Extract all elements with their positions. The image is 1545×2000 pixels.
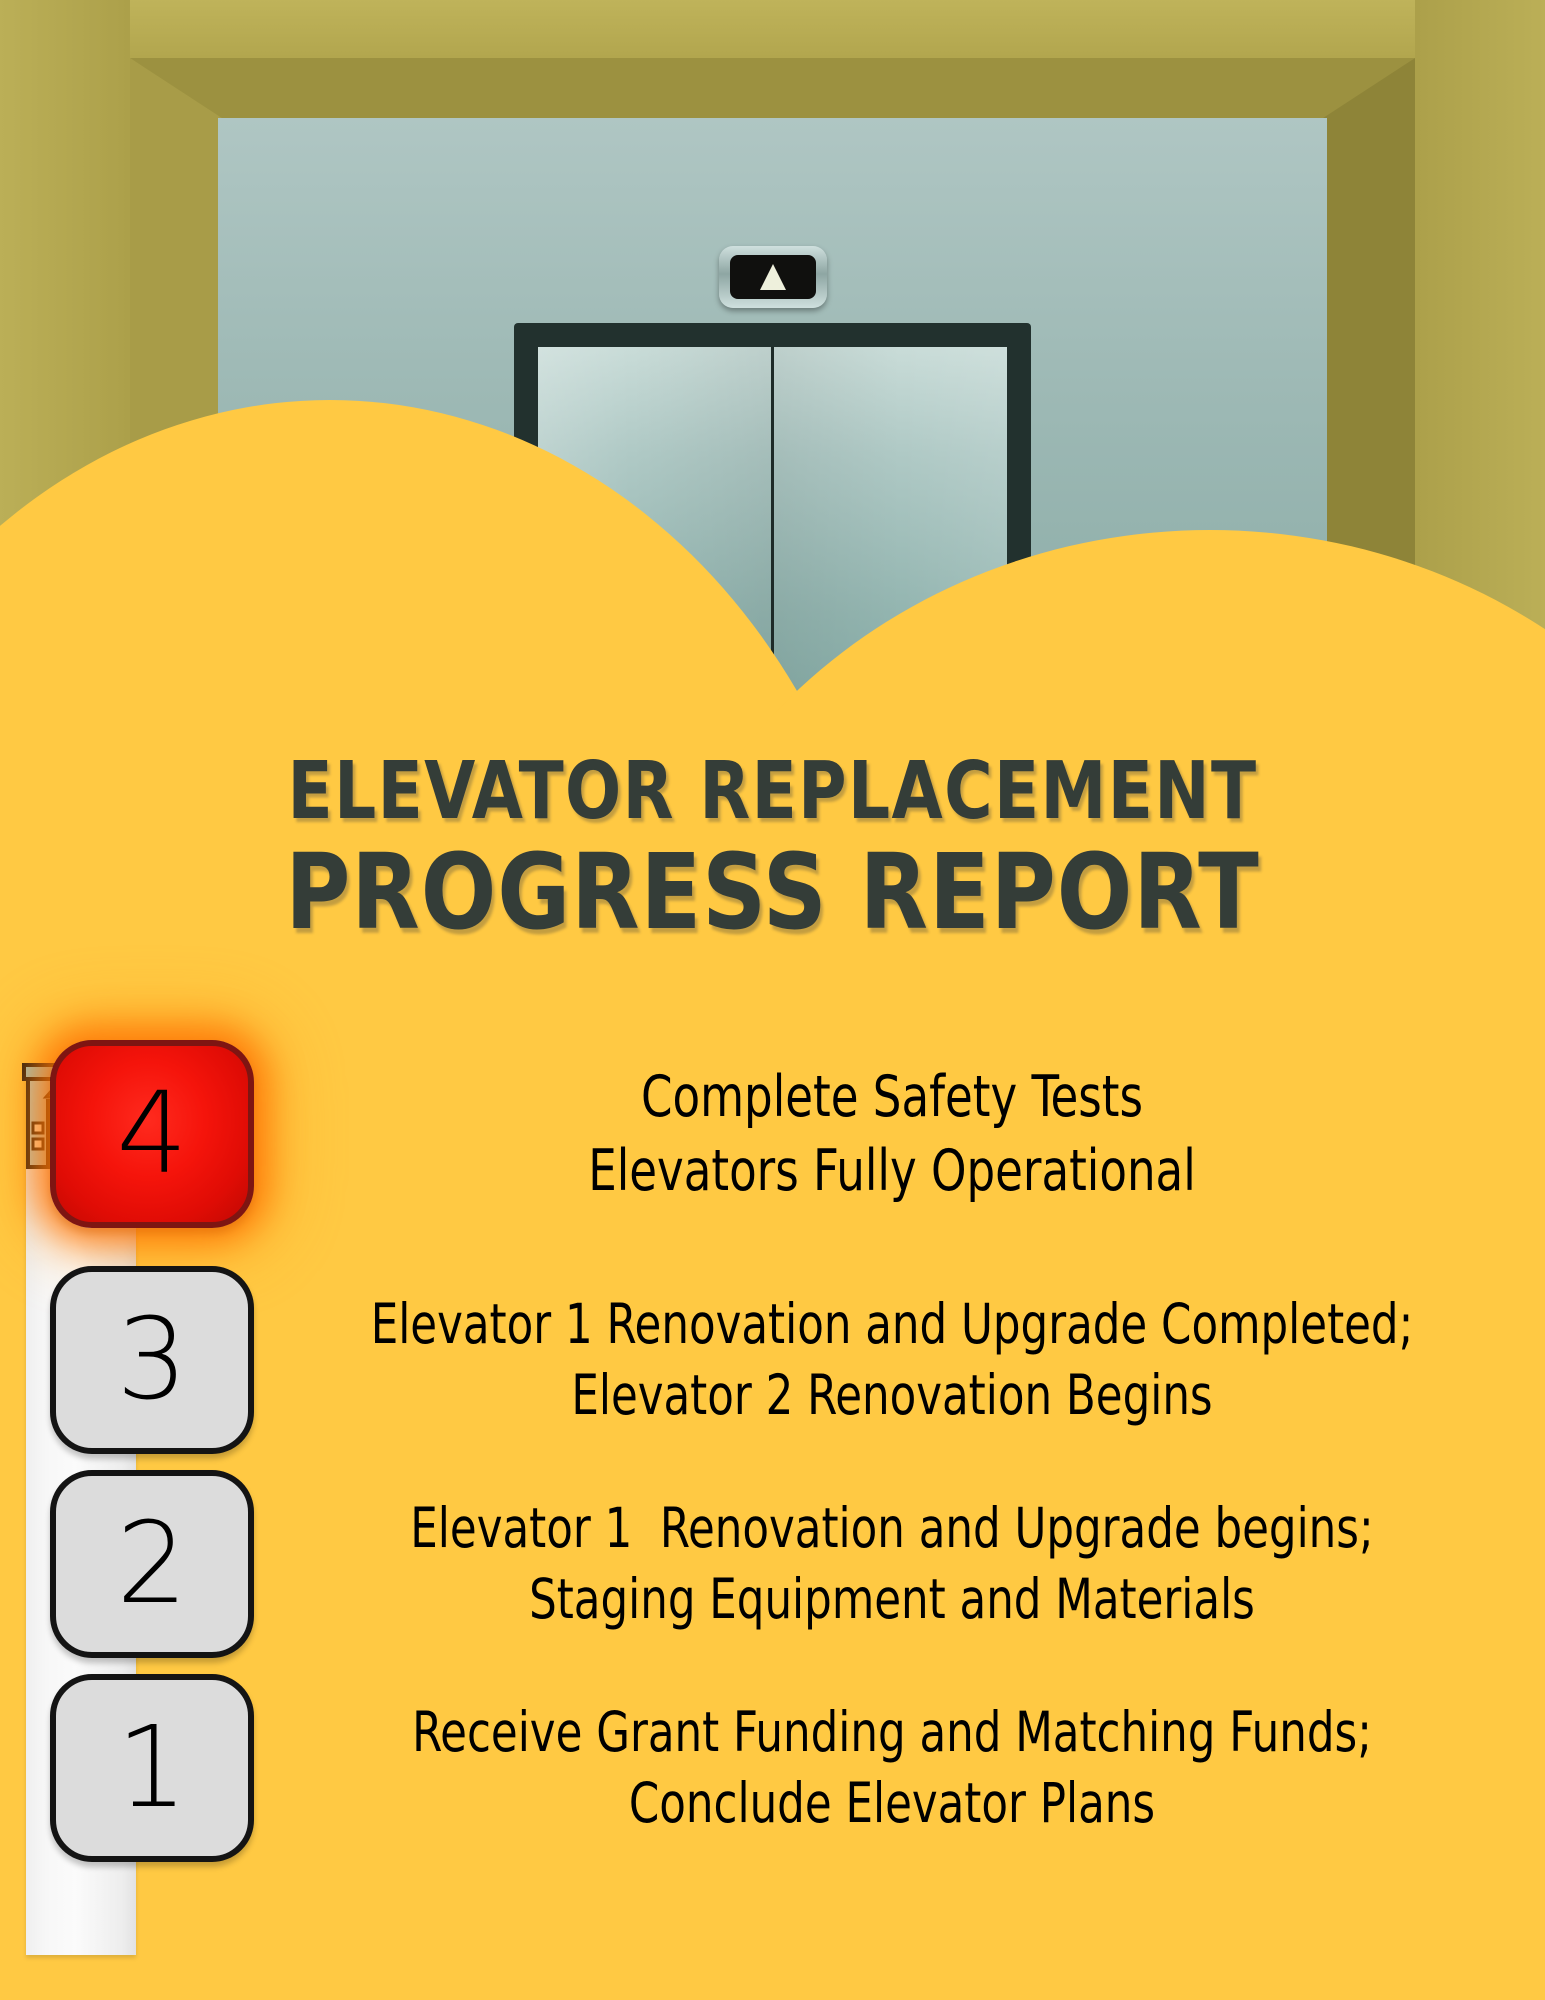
- step-description-2: Elevator 1 Renovation and Upgrade begins…: [365, 1493, 1469, 1636]
- step-description-line: Conclude Elevator Plans: [365, 1768, 1418, 1840]
- step-button-3[interactable]: 3: [50, 1266, 254, 1454]
- page-title: ELEVATOR REPLACEMENT PROGRESS REPORT: [0, 752, 1545, 947]
- step-button-wrap: 2: [0, 1470, 290, 1658]
- floor-indicator-lamp: [719, 246, 827, 308]
- progress-step-list: 4Complete Safety TestsElevators Fully Op…: [0, 1040, 1545, 1878]
- step-description-line: Elevators Fully Operational: [365, 1134, 1418, 1208]
- step-button-wrap: 3: [0, 1266, 290, 1454]
- step-button-2[interactable]: 2: [50, 1470, 254, 1658]
- progress-step-1: 1Receive Grant Funding and Matching Fund…: [0, 1674, 1545, 1862]
- step-button-1[interactable]: 1: [50, 1674, 254, 1862]
- progress-step-4: 4Complete Safety TestsElevators Fully Op…: [0, 1040, 1545, 1228]
- progress-report-poster: ELEVATOR REPLACEMENT PROGRESS REPORT 4Co…: [0, 0, 1545, 2000]
- step-description-1: Receive Grant Funding and Matching Funds…: [365, 1697, 1469, 1840]
- progress-step-2: 2Elevator 1 Renovation and Upgrade begin…: [0, 1470, 1545, 1658]
- title-line-1: ELEVATOR REPLACEMENT: [54, 752, 1491, 831]
- step-button-wrap: 4: [0, 1040, 290, 1228]
- indicator-screen: [730, 255, 816, 299]
- progress-step-3: 3Elevator 1 Renovation and Upgrade Compl…: [0, 1266, 1545, 1454]
- step-button-wrap: 1: [0, 1674, 290, 1862]
- step-description-line: Elevator 1 Renovation and Upgrade begins…: [365, 1493, 1418, 1565]
- step-description-line: Receive Grant Funding and Matching Funds…: [365, 1697, 1418, 1769]
- step-description-line: Staging Equipment and Materials: [365, 1564, 1418, 1636]
- step-description-line: Complete Safety Tests: [365, 1060, 1418, 1134]
- wall-top: [0, 0, 1545, 58]
- step-description-4: Complete Safety TestsElevators Fully Ope…: [365, 1060, 1469, 1208]
- step-button-4-active[interactable]: 4: [50, 1040, 254, 1228]
- step-description-3: Elevator 1 Renovation and Upgrade Comple…: [365, 1289, 1469, 1432]
- title-line-2: PROGRESS REPORT: [39, 837, 1507, 947]
- step-description-line: Elevator 1 Renovation and Upgrade Comple…: [365, 1289, 1418, 1361]
- recess-bevel-top: [130, 58, 1415, 120]
- up-arrow-icon: [760, 264, 786, 290]
- step-description-line: Elevator 2 Renovation Begins: [365, 1360, 1418, 1432]
